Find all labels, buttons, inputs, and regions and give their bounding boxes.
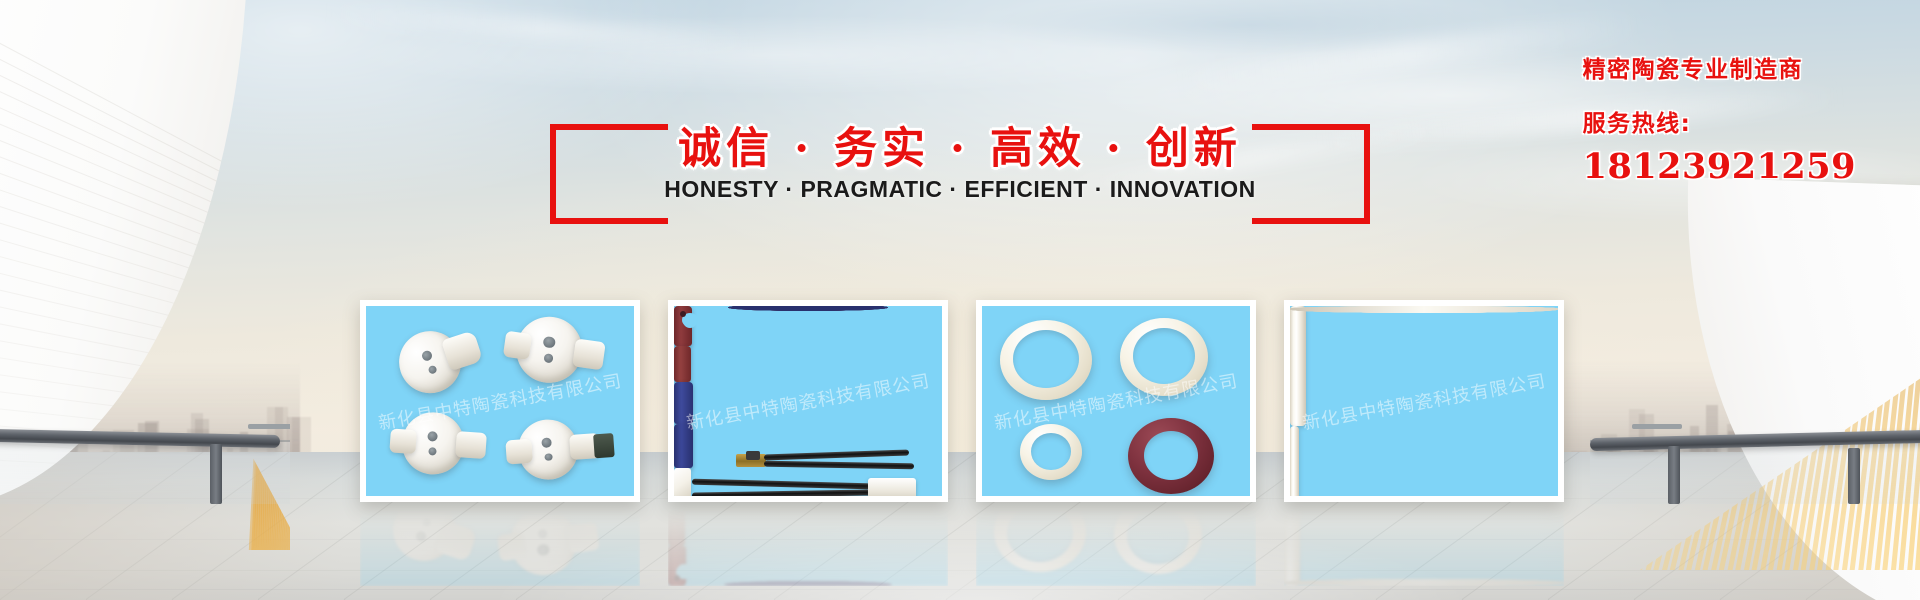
product-part	[541, 437, 552, 448]
product-part	[420, 349, 433, 362]
watermark-text: 新化县中特陶瓷科技有限公司	[1300, 367, 1548, 435]
ceramic-tube	[674, 382, 693, 424]
ceramic-ring-maroon	[1128, 418, 1214, 494]
ceramic-lamp-holder	[400, 410, 512, 479]
product-part	[505, 439, 533, 465]
product-part	[545, 453, 553, 461]
ceramic-tube	[674, 424, 693, 468]
product-part	[455, 431, 487, 459]
wire-harness	[736, 448, 926, 470]
watermark-text: 新化县中特陶瓷科技有限公司	[684, 367, 932, 435]
ceramic-lamp-holder	[516, 414, 626, 481]
product-part	[692, 479, 870, 490]
product-part	[429, 447, 438, 456]
product-part	[868, 478, 916, 496]
company-tagline: 精密陶瓷专业制造商	[1583, 50, 1856, 84]
product-part	[764, 461, 914, 470]
product-card-tubes-harnesses[interactable]: 新化县中特陶瓷科技有限公司	[668, 300, 948, 502]
ceramic-plate	[674, 468, 691, 496]
hotline-label: 服务热线:	[1583, 104, 1856, 138]
product-part	[389, 428, 417, 455]
ceramic-lamp-holder	[512, 313, 632, 394]
glass-balustrade-left	[0, 440, 290, 504]
slogan-chinese: 诚信 · 务实 · 高效 · 创新	[560, 114, 1360, 176]
ceramic-ring-large	[1120, 318, 1208, 396]
slogan-english: HONESTY · PRAGMATIC · EFFICIENT · INNOVA…	[560, 176, 1360, 203]
product-part	[1290, 306, 1558, 311]
hotline-number[interactable]: 18123921259	[1583, 146, 1856, 187]
product-card-rods[interactable]: 新化县中特陶瓷科技有限公司	[1284, 300, 1564, 502]
product-part	[544, 353, 554, 363]
railing-post	[1668, 446, 1680, 504]
railing-post	[1848, 448, 1860, 504]
product-part	[428, 364, 438, 374]
slogan-block: 诚信 · 务实 · 高效 · 创新 HONESTY · PRAGMATIC · …	[560, 118, 1360, 238]
wire-harness	[692, 478, 922, 496]
railing-post	[210, 444, 222, 504]
ceramic-lamp-holder	[391, 309, 513, 401]
ring-bore	[1133, 328, 1195, 384]
ceramic-ring-large	[1000, 320, 1092, 400]
product-part	[427, 431, 438, 442]
railing-bracket	[248, 424, 290, 429]
ceramic-tube	[674, 346, 691, 382]
product-part	[572, 339, 606, 371]
ceramic-ring-small	[1020, 424, 1082, 480]
ring-bore	[1013, 330, 1079, 388]
product-part	[680, 311, 686, 317]
ceramic-rod	[1290, 426, 1299, 496]
product-card-lamp-holders[interactable]: 新化县中特陶瓷科技有限公司	[360, 300, 640, 502]
ceramic-rod	[1290, 306, 1306, 426]
product-part	[503, 330, 532, 360]
product-part	[746, 451, 760, 460]
contact-block: 精密陶瓷专业制造商 服务热线: 18123921259	[1583, 50, 1856, 187]
product-part	[593, 433, 615, 458]
railing-bracket	[1632, 424, 1682, 429]
product-part	[543, 336, 556, 349]
architecture-left	[0, 0, 290, 600]
product-part	[764, 449, 909, 460]
product-part	[692, 489, 872, 496]
ring-bore	[1144, 431, 1198, 480]
product-card-rings[interactable]: 新化县中特陶瓷科技有限公司	[976, 300, 1256, 502]
ring-bore	[1031, 433, 1071, 470]
product-part	[728, 306, 889, 311]
promotional-banner: 诚信 · 务实 · 高效 · 创新 HONESTY · PRAGMATIC · …	[0, 0, 1920, 600]
